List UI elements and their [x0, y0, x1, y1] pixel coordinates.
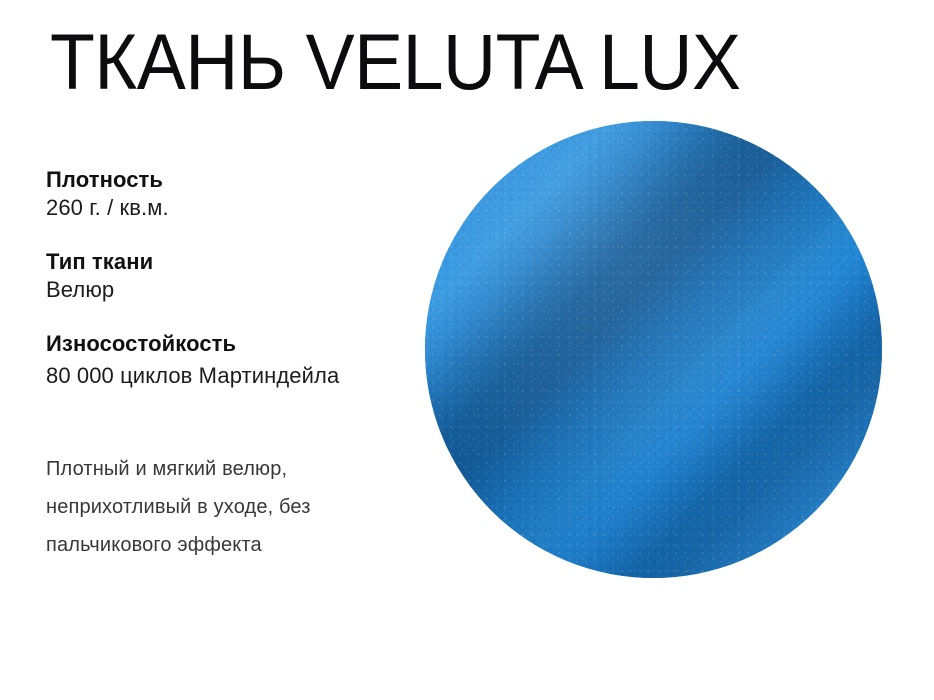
fabric-spec-card: ТКАНЬ VELUTA LUX Плотность 260 г. / кв.м…	[0, 0, 934, 700]
spec-item-density: Плотность 260 г. / кв.м.	[46, 166, 436, 222]
spec-label-fabric-type: Тип ткани	[46, 248, 436, 276]
spec-list: Плотность 260 г. / кв.м. Тип ткани Велюр…	[46, 166, 436, 394]
spec-label-density: Плотность	[46, 166, 436, 194]
spec-value-density: 260 г. / кв.м.	[46, 194, 436, 222]
swatch-vignette	[425, 121, 882, 578]
spec-value-durability: 80 000 циклов Мартиндейла	[46, 358, 436, 394]
fabric-swatch-circle	[425, 121, 882, 578]
spec-value-fabric-type: Велюр	[46, 276, 436, 304]
spec-item-fabric-type: Тип ткани Велюр	[46, 248, 436, 304]
spec-label-durability: Износостойкость	[46, 330, 436, 358]
page-title: ТКАНЬ VELUTA LUX	[50, 17, 741, 107]
fabric-description: Плотный и мягкий велюр, неприхотливый в …	[46, 450, 426, 564]
spec-item-durability: Износостойкость 80 000 циклов Мартиндейл…	[46, 330, 436, 394]
